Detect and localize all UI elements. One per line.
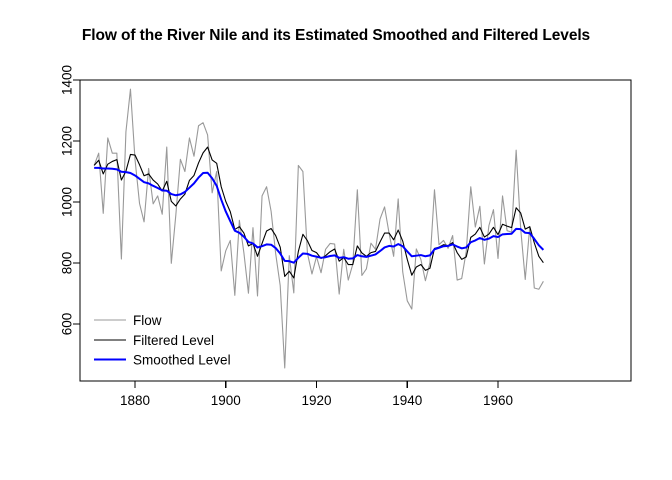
y-tick-label: 1000 — [60, 187, 75, 217]
series-line-flow — [94, 89, 543, 368]
x-tick-label: 1940 — [392, 393, 422, 408]
series-line-smoothed-level — [94, 168, 543, 263]
plot-canvas: 60080010001200140018801900192019401960 F… — [0, 0, 672, 480]
x-tick-label: 1900 — [211, 393, 241, 408]
y-tick-label: 800 — [60, 252, 75, 275]
legend-label-flow: Flow — [133, 313, 162, 328]
series-group — [94, 89, 543, 368]
x-tick-label: 1880 — [120, 393, 150, 408]
x-tick-label: 1920 — [301, 393, 331, 408]
legend-label-smoothed-level: Smoothed Level — [133, 353, 231, 368]
y-tick-label: 1400 — [60, 65, 75, 95]
y-tick-label: 1200 — [60, 126, 75, 156]
legend-group: FlowFiltered LevelSmoothed Level — [94, 313, 231, 368]
chart-container: Flow of the River Nile and its Estimated… — [0, 0, 672, 480]
legend-label-filtered-level: Filtered Level — [133, 333, 214, 348]
y-tick-label: 600 — [60, 313, 75, 336]
x-tick-label: 1960 — [483, 393, 513, 408]
